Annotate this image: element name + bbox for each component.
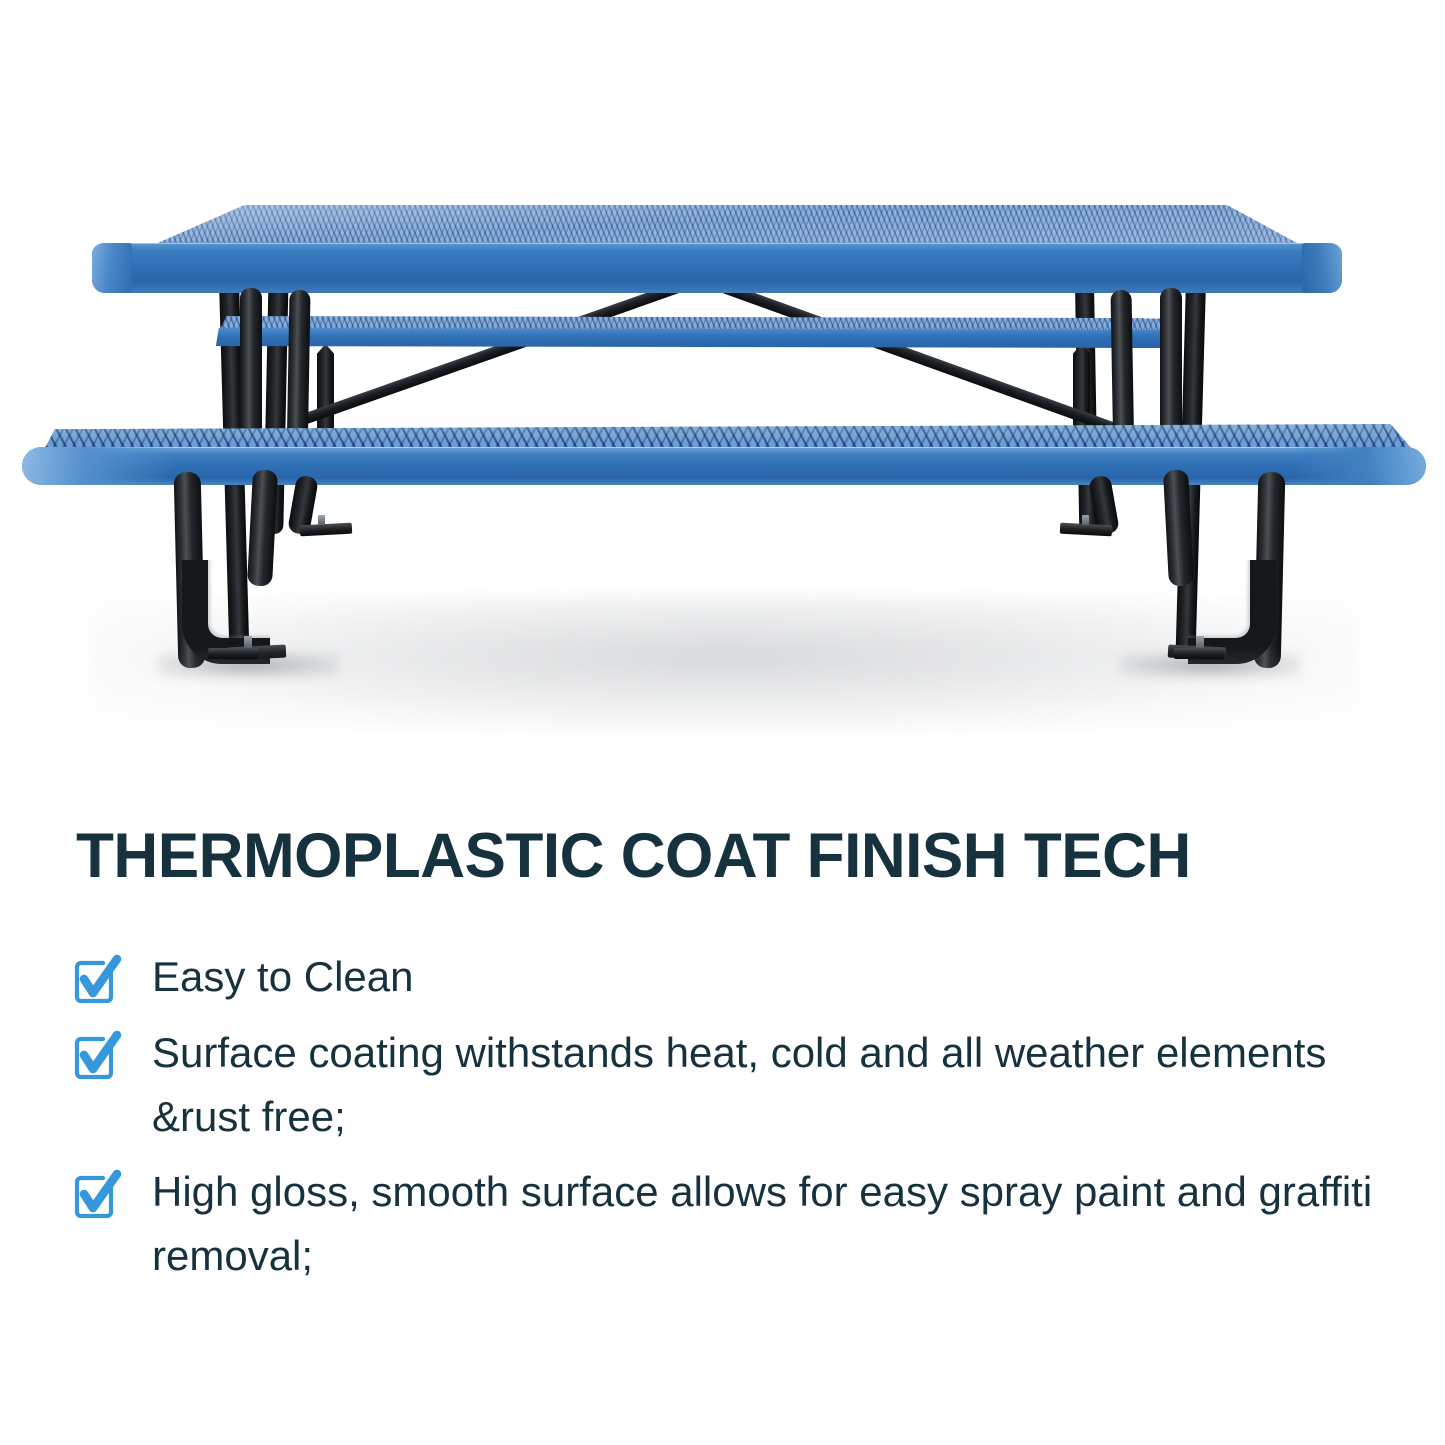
cross-brace-right [713, 279, 1131, 438]
checkbox-checked-icon [70, 1169, 122, 1221]
bench-far-edge [213, 328, 1177, 348]
feature-bullet-item: High gloss, smooth surface allows for ea… [70, 1160, 1420, 1288]
feature-bullet-item: Surface coating withstands heat, cold an… [70, 1021, 1420, 1149]
tabletop-left-cap [92, 243, 132, 293]
feature-bullet-text: Easy to Clean [152, 945, 413, 1009]
bench-near-edge [22, 447, 1426, 485]
feature-bullet-text: High gloss, smooth surface allows for ea… [152, 1160, 1397, 1288]
checkbox-checked-icon [70, 954, 122, 1006]
checkbox-checked-icon [70, 1030, 122, 1082]
feature-bullet-list: Easy to Clean Surface coating withstands… [70, 945, 1420, 1300]
tabletop-rolled-edge [92, 243, 1342, 293]
tabletop-right-cap [1302, 243, 1342, 293]
foot-plate-far-left [208, 648, 258, 659]
leg-lower-left-outer [247, 469, 278, 586]
product-image [0, 0, 1445, 790]
feature-bullet-text: Surface coating withstands heat, cold an… [152, 1021, 1397, 1149]
feature-bullet-item: Easy to Clean [70, 945, 1420, 1009]
feature-section: THERMOPLASTIC COAT FINISH TECH Easy to C… [0, 790, 1445, 1445]
foot-bolt-rear-right [1082, 515, 1089, 525]
cross-brace-left [290, 275, 699, 428]
foot-bolt-rear-left [318, 515, 325, 525]
section-headline: THERMOPLASTIC COAT FINISH TECH [76, 825, 1386, 888]
foot-plate-rear-left [300, 523, 353, 537]
foot-bolt-right [1196, 636, 1204, 648]
foot-plate-far-right [1174, 648, 1224, 659]
foot-bolt-left [244, 636, 252, 648]
